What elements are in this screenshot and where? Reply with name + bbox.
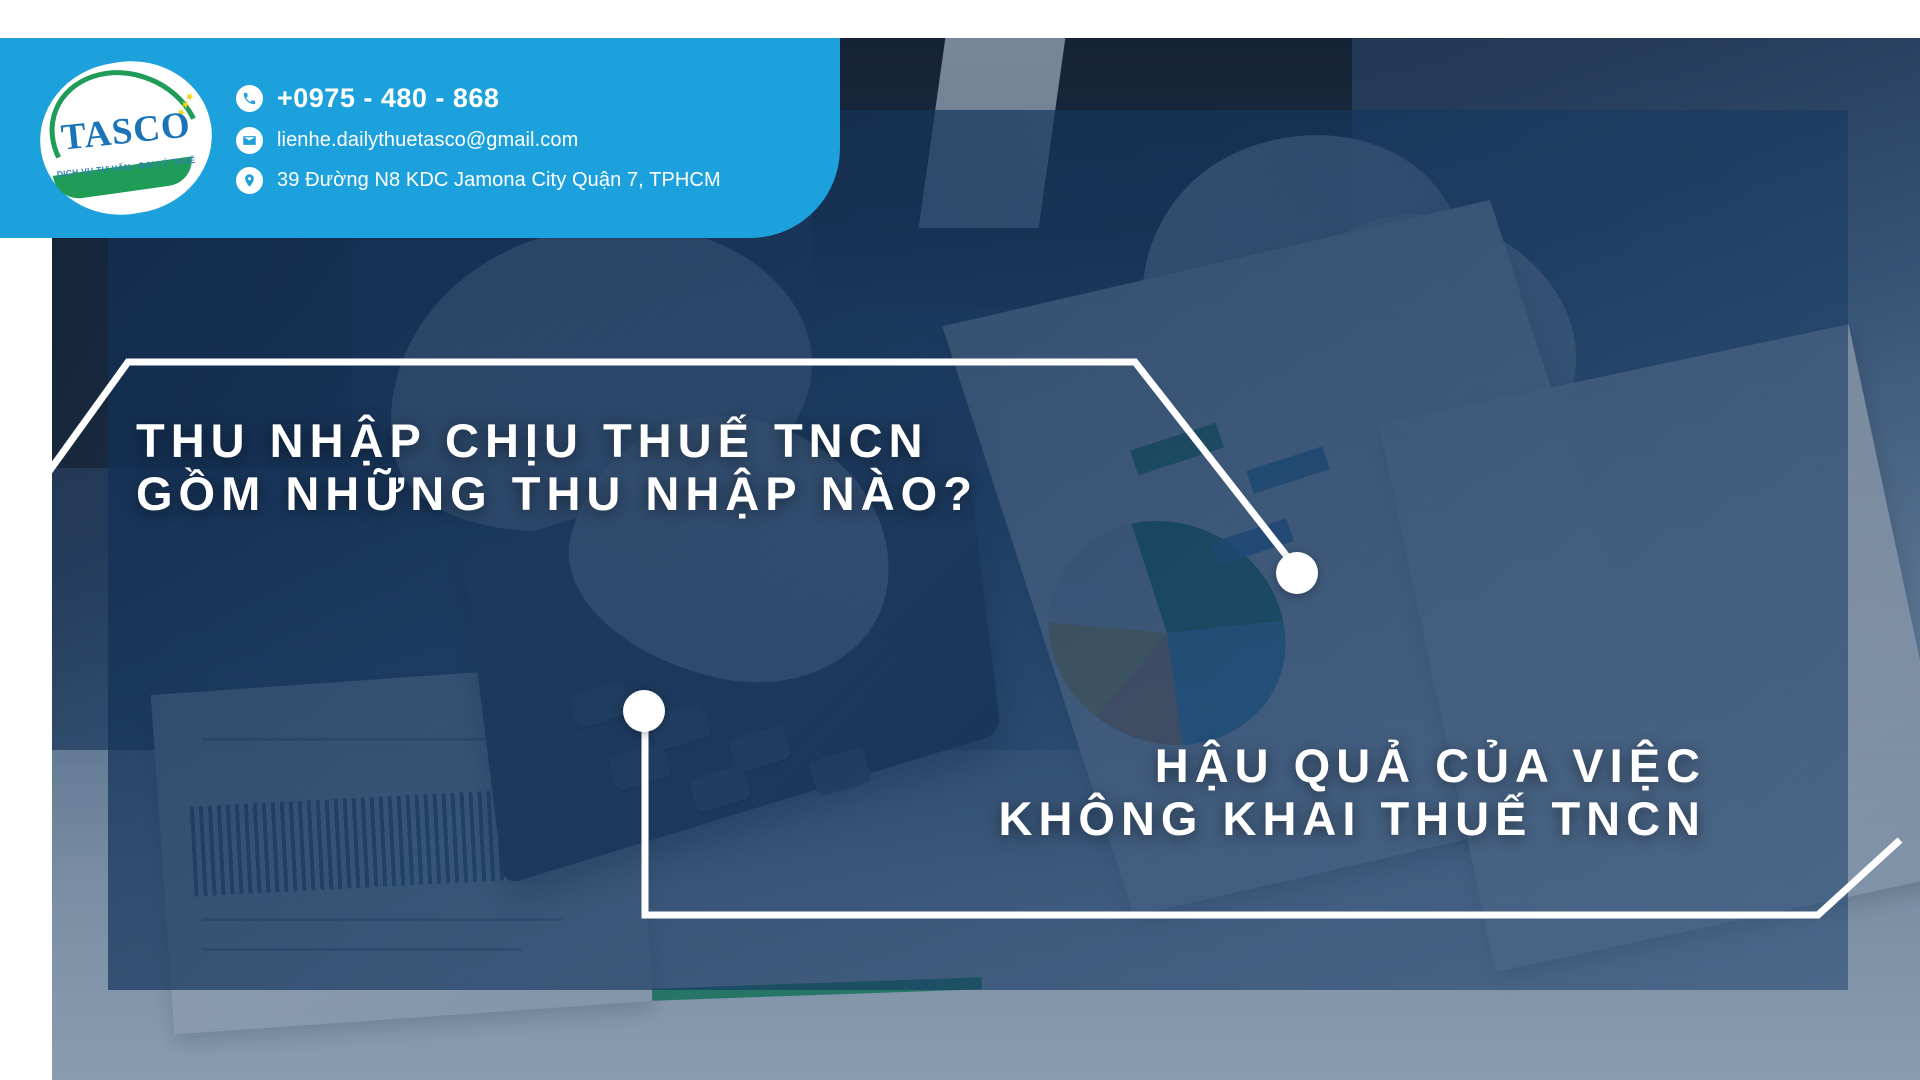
contact-list: +0975 - 480 - 868 lienhe.dailythuetasco@… bbox=[236, 83, 721, 194]
contact-row-address[interactable]: 39 Đường N8 KDC Jamona City Quận 7, TPHC… bbox=[236, 167, 721, 194]
overlay-panel bbox=[108, 110, 1848, 990]
phone-icon bbox=[236, 85, 263, 112]
tasco-logo: ★★★ TASCO DỊCH VỤ TƯ VẤN - ĐẠI LÝ THUẾ bbox=[40, 62, 212, 214]
contact-header-bar: ★★★ TASCO DỊCH VỤ TƯ VẤN - ĐẠI LÝ THUẾ +… bbox=[0, 38, 840, 238]
callout-bottom-headline: HẬU QUẢ CỦA VIỆC KHÔNG KHAI THUẾ TNCN bbox=[866, 740, 1706, 845]
headline-line-1: HẬU QUẢ CỦA VIỆC bbox=[866, 740, 1706, 793]
headline-line-2: KHÔNG KHAI THUẾ TNCN bbox=[866, 793, 1706, 846]
callout-top-headline: THU NHẬP CHỊU THUẾ TNCN GỒM NHỮNG THU NH… bbox=[136, 415, 978, 520]
envelope-icon bbox=[236, 127, 263, 154]
contact-row-email[interactable]: lienhe.dailythuetasco@gmail.com bbox=[236, 127, 721, 154]
banner-canvas: THU NHẬP CHỊU THUẾ TNCN GỒM NHỮNG THU NH… bbox=[0, 0, 1920, 1080]
headline-line-2: GỒM NHỮNG THU NHẬP NÀO? bbox=[136, 468, 978, 521]
office-address: 39 Đường N8 KDC Jamona City Quận 7, TPHC… bbox=[277, 169, 721, 192]
contact-row-phone[interactable]: +0975 - 480 - 868 bbox=[236, 83, 721, 114]
callout-top-dot-marker bbox=[1276, 552, 1318, 594]
email-address: lienhe.dailythuetasco@gmail.com bbox=[277, 129, 578, 152]
phone-number: +0975 - 480 - 868 bbox=[277, 83, 499, 114]
headline-line-1: THU NHẬP CHỊU THUẾ TNCN bbox=[136, 415, 978, 468]
callout-bottom-dot-marker bbox=[623, 690, 665, 732]
location-pin-icon bbox=[236, 167, 263, 194]
